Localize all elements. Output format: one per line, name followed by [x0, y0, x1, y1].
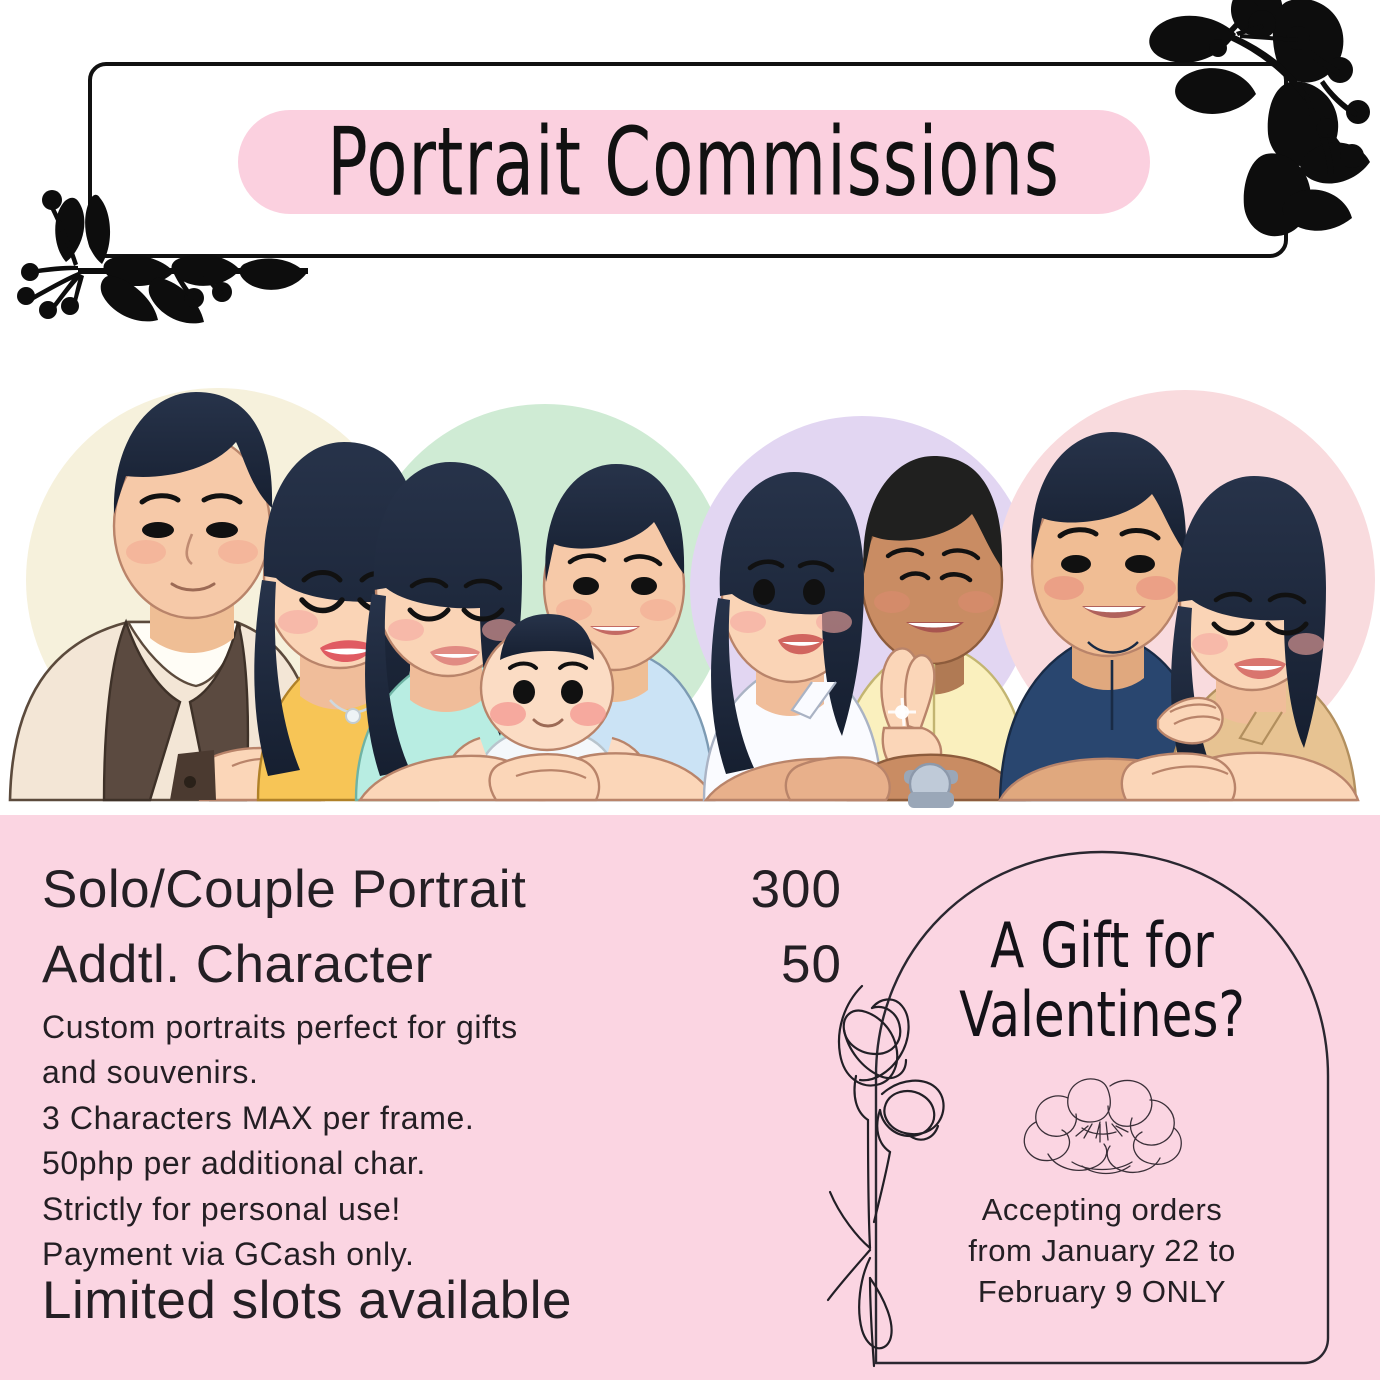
detail-line: Custom portraits perfect for gifts [42, 1005, 742, 1050]
arch-heading-line-2: Valentines? [882, 982, 1322, 1048]
page-title: Portrait Commissions [328, 115, 1061, 210]
price-label: Addtl. Character [42, 938, 433, 991]
price-row: Addtl. Character 50 [42, 938, 842, 991]
header-area: Portrait Commissions [0, 0, 1380, 340]
date-line: from January 22 to [892, 1231, 1312, 1272]
arch-heading: A Gift for Valentines? [882, 920, 1322, 1042]
arch-heading-line-1: A Gift for [882, 913, 1322, 979]
detail-line: Strictly for personal use! [42, 1187, 742, 1232]
detail-line: 50php per additional char. [42, 1141, 742, 1186]
arch-dates: Accepting orders from January 22 to Febr… [892, 1190, 1312, 1313]
price-amount: 300 [751, 863, 842, 916]
title-pill: Portrait Commissions [238, 110, 1150, 214]
limited-slots-text: Limited slots available [42, 1270, 572, 1331]
portrait-samples-illustration [0, 330, 1380, 820]
price-row: Solo/Couple Portrait 300 [42, 863, 842, 916]
detail-line: and souvenirs. [42, 1050, 742, 1095]
price-label: Solo/Couple Portrait [42, 863, 526, 916]
illustration-band [0, 330, 1380, 820]
details-list: Custom portraits perfect for gifts and s… [42, 1005, 742, 1278]
portrait-commissions-poster: Portrait Commissions [0, 0, 1380, 1380]
date-line: Accepting orders [892, 1190, 1312, 1231]
line-art-flower-icon [1012, 1066, 1192, 1186]
price-list: Solo/Couple Portrait 300 Addtl. Characte… [42, 863, 842, 991]
detail-line: 3 Characters MAX per frame. [42, 1096, 742, 1141]
date-line: February 9 ONLY [892, 1272, 1312, 1313]
valentines-arch-card: A Gift for Valentines? Accepting or [862, 838, 1342, 1368]
